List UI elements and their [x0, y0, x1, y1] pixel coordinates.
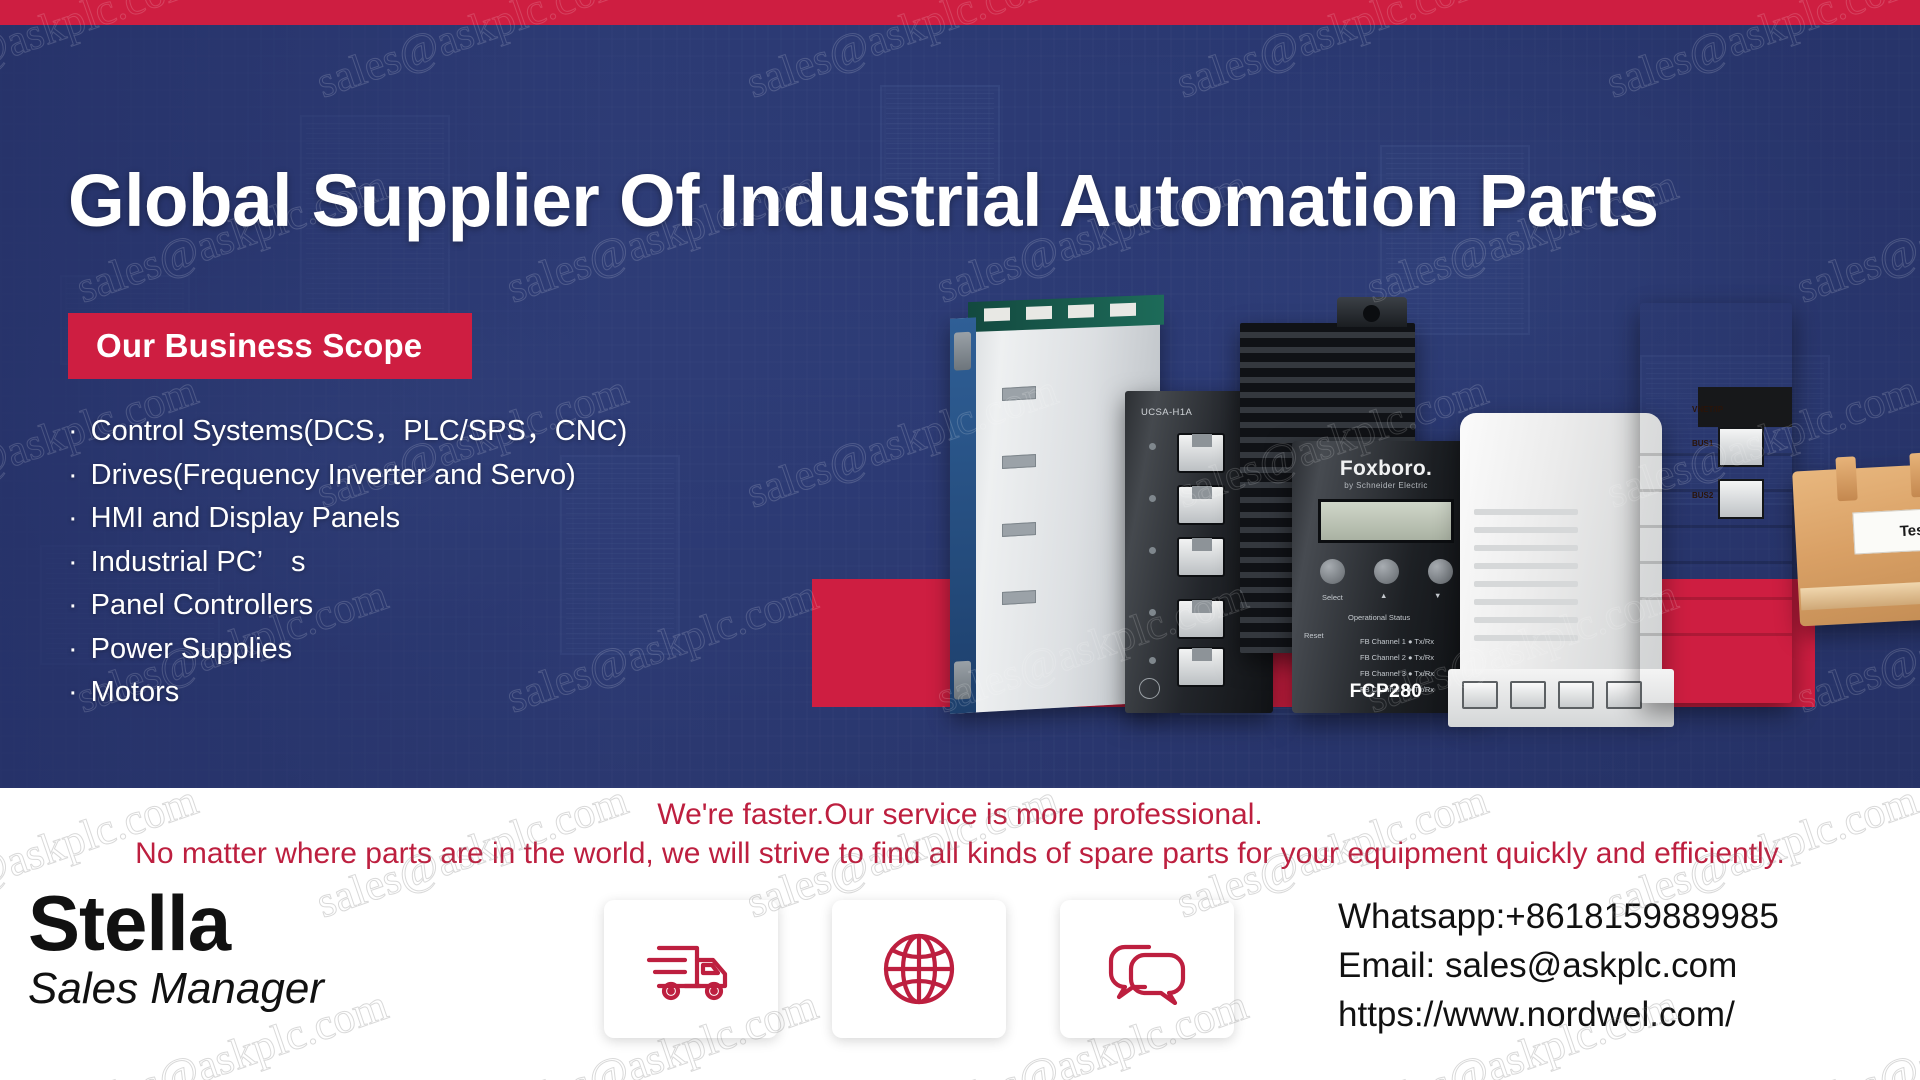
- chat-bubbles-icon: [1099, 933, 1195, 1005]
- service-card-support[interactable]: [1060, 900, 1234, 1038]
- key-label-up: ▲: [1380, 591, 1387, 600]
- page-title: Global Supplier Of Industrial Automation…: [68, 158, 1659, 243]
- list-item: ·Drives(Frequency Inverter and Servo): [68, 454, 627, 498]
- signature-block: Stella Sales Manager: [28, 886, 328, 1014]
- top-accent-bar: [0, 0, 1920, 25]
- scope-item-label: Industrial PC’ s: [91, 546, 306, 578]
- key-label-down: ▼: [1434, 591, 1441, 600]
- sales-person-role: Sales Manager: [28, 964, 328, 1014]
- bullet-icon: ·: [68, 589, 78, 621]
- product-orange-plc-module: VNET/IP BUS1 BUS2: [1640, 303, 1792, 703]
- product-abb-white-controller: [1460, 413, 1662, 713]
- scope-item-label: Motors: [91, 676, 180, 708]
- bullet-icon: ·: [68, 546, 78, 578]
- bus1-label: BUS1: [1692, 439, 1713, 448]
- scope-item-label: Panel Controllers: [91, 589, 313, 621]
- product-photo-cluster: UCSA-H1A Foxboro. by Schneider Electric …: [940, 295, 1860, 715]
- foxboro-sub-label: by Schneider Electric: [1292, 481, 1480, 490]
- bullet-icon: ·: [68, 633, 78, 665]
- bullet-icon: ·: [68, 459, 78, 491]
- lcd-display: [1318, 499, 1454, 543]
- ge-logo-icon: [1139, 678, 1160, 699]
- delivery-truck-icon: [645, 934, 737, 1004]
- channel-row: FB Channel 3 ● Tx/Rx: [1360, 669, 1434, 678]
- scope-item-label: Control Systems(DCS，PLC/SPS，CNC): [91, 415, 628, 447]
- business-scope-label: Our Business Scope: [68, 327, 422, 365]
- channel-row: FB Channel 1 ● Tx/Rx: [1360, 637, 1434, 646]
- contact-whatsapp[interactable]: Whatsapp:+8618159889985: [1338, 892, 1779, 941]
- footer-section: We're faster.Our service is more profess…: [0, 788, 1920, 1080]
- list-item: ·HMI and Display Panels: [68, 497, 627, 541]
- sales-person-name: Stella: [28, 886, 328, 960]
- bullet-icon: ·: [68, 502, 78, 534]
- globe-icon: [880, 930, 958, 1008]
- bullet-icon: ·: [68, 676, 78, 708]
- list-item: ·Power Supplies: [68, 628, 627, 672]
- product-tan-terminal-block: Tested: [1792, 459, 1920, 627]
- scope-item-label: HMI and Display Panels: [91, 502, 400, 534]
- scope-item-label: Power Supplies: [91, 633, 293, 665]
- list-item: ·Panel Controllers: [68, 584, 627, 628]
- key-label-select: Select: [1322, 593, 1343, 602]
- service-card-delivery[interactable]: [604, 900, 778, 1038]
- foxboro-brand-label: Foxboro.: [1292, 457, 1480, 481]
- reset-label: Reset: [1304, 631, 1324, 640]
- bus2-label: BUS2: [1692, 491, 1713, 500]
- tested-label: Tested: [1852, 505, 1920, 554]
- contact-email[interactable]: Email: sales@askplc.com: [1338, 941, 1779, 990]
- tagline-line-1: We're faster.Our service is more profess…: [0, 798, 1920, 832]
- business-scope-badge: Our Business Scope: [68, 313, 472, 379]
- product-model-label: UCSA-H1A: [1141, 407, 1192, 418]
- tagline-line-2: No matter where parts are in the world, …: [0, 837, 1920, 871]
- service-card-global[interactable]: [832, 900, 1006, 1038]
- channel-row: FB Channel 2 ● Tx/Rx: [1360, 653, 1434, 662]
- list-item: ·Motors: [68, 671, 627, 715]
- list-item: ·Control Systems(DCS，PLC/SPS，CNC): [68, 410, 627, 454]
- operational-status-label: Operational Status: [1348, 613, 1410, 622]
- contact-block: Whatsapp:+8618159889985 Email: sales@ask…: [1338, 892, 1779, 1039]
- list-item: ·Industrial PC’ s: [68, 541, 627, 585]
- contact-website[interactable]: https://www.nordwel.com/: [1338, 990, 1779, 1039]
- bullet-icon: ·: [68, 415, 78, 447]
- scope-item-label: Drives(Frequency Inverter and Servo): [91, 459, 576, 491]
- service-card-row: [604, 900, 1234, 1038]
- business-scope-list: ·Control Systems(DCS，PLC/SPS，CNC) ·Drive…: [68, 410, 627, 715]
- hero-section: Global Supplier Of Industrial Automation…: [0, 25, 1920, 788]
- vnetip-label: VNET/IP: [1692, 405, 1723, 414]
